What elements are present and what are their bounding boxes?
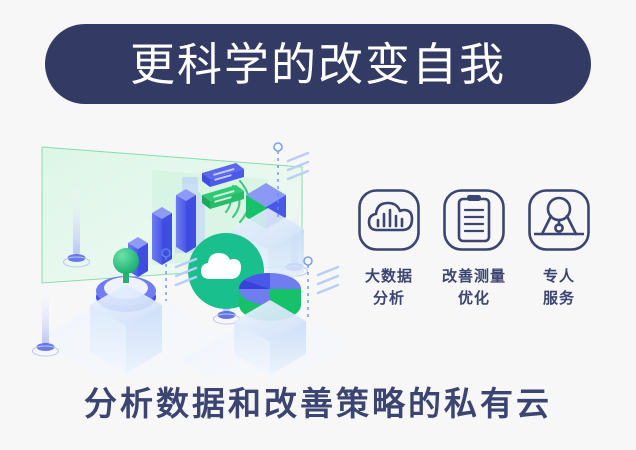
feature-label-line2: 分析 xyxy=(365,288,413,310)
feature-label-line2: 优化 xyxy=(442,288,506,310)
title-banner: 更科学的改变自我 xyxy=(45,24,591,104)
cloud-bar-chart-icon xyxy=(357,188,421,252)
feature-label: 专人 服务 xyxy=(543,266,575,310)
clipboard-icon xyxy=(442,188,506,252)
feature-label-line1: 大数据 xyxy=(365,266,413,288)
feature-list: 大数据 分析 改善测量 xyxy=(352,188,596,310)
feature-label-line1: 改善测量 xyxy=(442,266,506,288)
feature-big-data-analysis[interactable]: 大数据 分析 xyxy=(352,188,426,310)
footer-tagline: 分析数据和改善策略的私有云 xyxy=(0,384,636,424)
feature-improvement-measurement[interactable]: 改善测量 优化 xyxy=(437,188,511,310)
feature-label: 改善测量 优化 xyxy=(442,266,506,310)
service-person-icon xyxy=(527,188,591,252)
feature-label-line1: 专人 xyxy=(543,266,575,288)
feature-label: 大数据 分析 xyxy=(365,266,413,310)
promo-banner: 更科学的改变自我 xyxy=(0,0,636,450)
feature-dedicated-service[interactable]: 专人 服务 xyxy=(522,188,596,310)
isometric-illustration xyxy=(30,125,350,375)
feature-label-line2: 服务 xyxy=(543,288,575,310)
page-title: 更科学的改变自我 xyxy=(130,42,506,87)
